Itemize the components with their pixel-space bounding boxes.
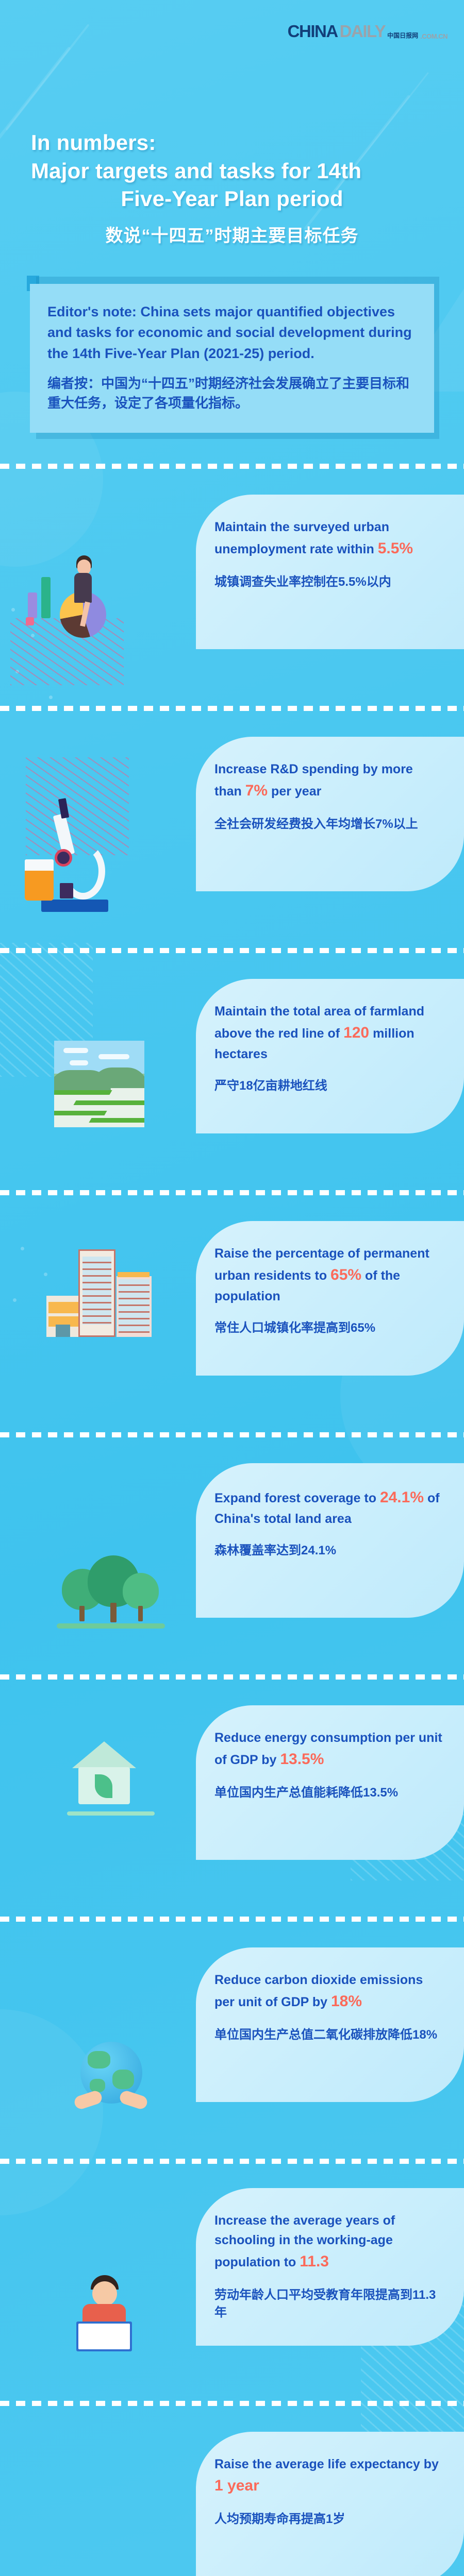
urbanization-text-en: Raise the percentage of permanent urban …	[214, 1244, 443, 1307]
farmland-text-zh: 严守18亿亩耕地红线	[214, 1077, 443, 1095]
card-rd-spending: Increase R&D spending by more than 7% pe…	[0, 711, 464, 917]
life-value: 1 year	[214, 2477, 259, 2494]
page-title: In numbers: Major targets and tasks for …	[31, 129, 433, 213]
editors-note-panel: Editor's note: China sets major quantifi…	[30, 284, 434, 433]
carbon-panel: Reduce carbon dioxide emissions per unit…	[196, 1947, 464, 2102]
infographic-page: CHINA DAILY 中国日报网 .COM.CN In numbers: Ma…	[0, 0, 464, 2576]
unemployment-value: 5.5%	[378, 540, 413, 557]
editors-note-block: Editor's note: China sets major quantifi…	[30, 284, 434, 433]
farmland-text-en: Maintain the total area of farmland abov…	[214, 1002, 443, 1064]
section-divider	[0, 948, 464, 953]
rd-spending-text-en: Increase R&D spending by more than 7% pe…	[214, 759, 443, 803]
schooling-panel: Increase the average years of schooling …	[196, 2188, 464, 2346]
forest-panel: Expand forest coverage to 24.1% of China…	[196, 1463, 464, 1618]
unemployment-text-zh: 城镇调查失业率控制在5.5%以内	[214, 573, 443, 591]
section-divider	[0, 2401, 464, 2406]
card-urbanization: Raise the percentage of permanent urban …	[0, 1195, 464, 1401]
unemployment-text-en: Maintain the surveyed urban unemployment…	[214, 517, 443, 561]
rd-en-after: per year	[271, 784, 321, 799]
schooling-text-en: Increase the average years of schooling …	[214, 2211, 443, 2274]
farmland-panel: Maintain the total area of farmland abov…	[196, 979, 464, 1133]
section-divider	[0, 464, 464, 469]
woman-with-charts-illustration	[10, 541, 165, 675]
green-house-leaf-illustration	[62, 1736, 165, 1819]
card-carbon-emissions: Reduce carbon dioxide emissions per unit…	[0, 1922, 464, 2128]
life-en-before: Raise the average life expectancy by	[214, 2457, 439, 2471]
section-divider	[0, 1190, 464, 1195]
carbon-value: 18%	[331, 1993, 362, 2010]
schooling-text-zh: 劳动年龄人口平均受教育年限提高到11.3年	[214, 2286, 443, 2321]
life-expectancy-panel: Raise the average life expectancy by 1 y…	[196, 2432, 464, 2576]
card-forest-coverage: Expand forest coverage to 24.1% of China…	[0, 1437, 464, 1643]
section-divider	[0, 1432, 464, 1437]
section-divider	[0, 706, 464, 711]
energy-text-zh: 单位国内生产总值能耗降低13.5%	[214, 1784, 443, 1802]
energy-en-before: Reduce energy consumption per unit of GD…	[214, 1731, 442, 1767]
unemployment-en-before: Maintain the surveyed urban unemployment…	[214, 520, 389, 556]
energy-text-en: Reduce energy consumption per unit of GD…	[214, 1728, 443, 1771]
editors-note-english: Editor's note: China sets major quantifi…	[47, 301, 417, 364]
farmland-photo-illustration	[54, 1041, 147, 1133]
urbanization-text-zh: 常住人口城镇化率提高到65%	[214, 1319, 443, 1337]
globe-hands-illustration	[62, 2038, 165, 2125]
schooling-value: 11.3	[300, 2253, 329, 2270]
urbanization-panel: Raise the percentage of permanent urban …	[196, 1221, 464, 1376]
card-energy-consumption: Reduce energy consumption per unit of GD…	[0, 1680, 464, 1886]
carbon-en-before: Reduce carbon dioxide emissions per unit…	[214, 1973, 423, 2009]
section-divider	[0, 2159, 464, 2164]
energy-value: 13.5%	[280, 1751, 324, 1768]
life-expectancy-text-en: Raise the average life expectancy by 1 y…	[214, 2454, 443, 2498]
card-life-expectancy: Raise the average life expectancy by 1 y…	[0, 2406, 464, 2576]
unemployment-panel: Maintain the surveyed urban unemployment…	[196, 495, 464, 649]
rd-spending-text-zh: 全社会研发经费投入年均增长7%以上	[214, 816, 443, 833]
section-divider	[0, 1674, 464, 1680]
energy-panel: Reduce energy consumption per unit of GD…	[196, 1705, 464, 1860]
urbanization-value: 65%	[330, 1266, 361, 1283]
forest-value: 24.1%	[380, 1489, 424, 1506]
title-line-1: In numbers:	[31, 129, 433, 157]
rd-spending-panel: Increase R&D spending by more than 7% pe…	[196, 737, 464, 891]
section-divider	[0, 1917, 464, 1922]
editors-note-chinese: 编者按：中国为“十四五”时期经济社会发展确立了主要目标和重大任务，设定了各项量化…	[47, 374, 417, 413]
hero-header: In numbers: Major targets and tasks for …	[0, 0, 464, 247]
forest-en-before: Expand forest coverage to	[214, 1491, 376, 1505]
forest-trees-illustration	[57, 1548, 165, 1636]
farmland-value: 120	[343, 1024, 369, 1041]
forest-text-zh: 森林覆盖率达到24.1%	[214, 1542, 443, 1560]
life-expectancy-text-zh: 人均预期寿命再提高1岁	[214, 2511, 443, 2528]
rd-value: 7%	[245, 782, 268, 799]
card-schooling-years: Increase the average years of schooling …	[0, 2164, 464, 2370]
microscope-illustration	[21, 773, 165, 917]
carbon-text-zh: 单位国内生产总值二氧化碳排放降低18%	[214, 2026, 443, 2044]
carbon-text-en: Reduce carbon dioxide emissions per unit…	[214, 1970, 443, 2013]
city-buildings-illustration	[46, 1244, 175, 1337]
card-unemployment: Maintain the surveyed urban unemployment…	[0, 469, 464, 675]
title-line-2: Major targets and tasks for 14th	[31, 157, 433, 185]
forest-text-en: Expand forest coverage to 24.1% of China…	[214, 1486, 443, 1529]
student-reading-book-illustration	[57, 2272, 170, 2365]
card-farmland: Maintain the total area of farmland abov…	[0, 953, 464, 1159]
title-line-3: Five-Year Plan period	[31, 185, 433, 213]
page-subtitle-chinese: 数说“十四五”时期主要目标任务	[31, 222, 433, 247]
